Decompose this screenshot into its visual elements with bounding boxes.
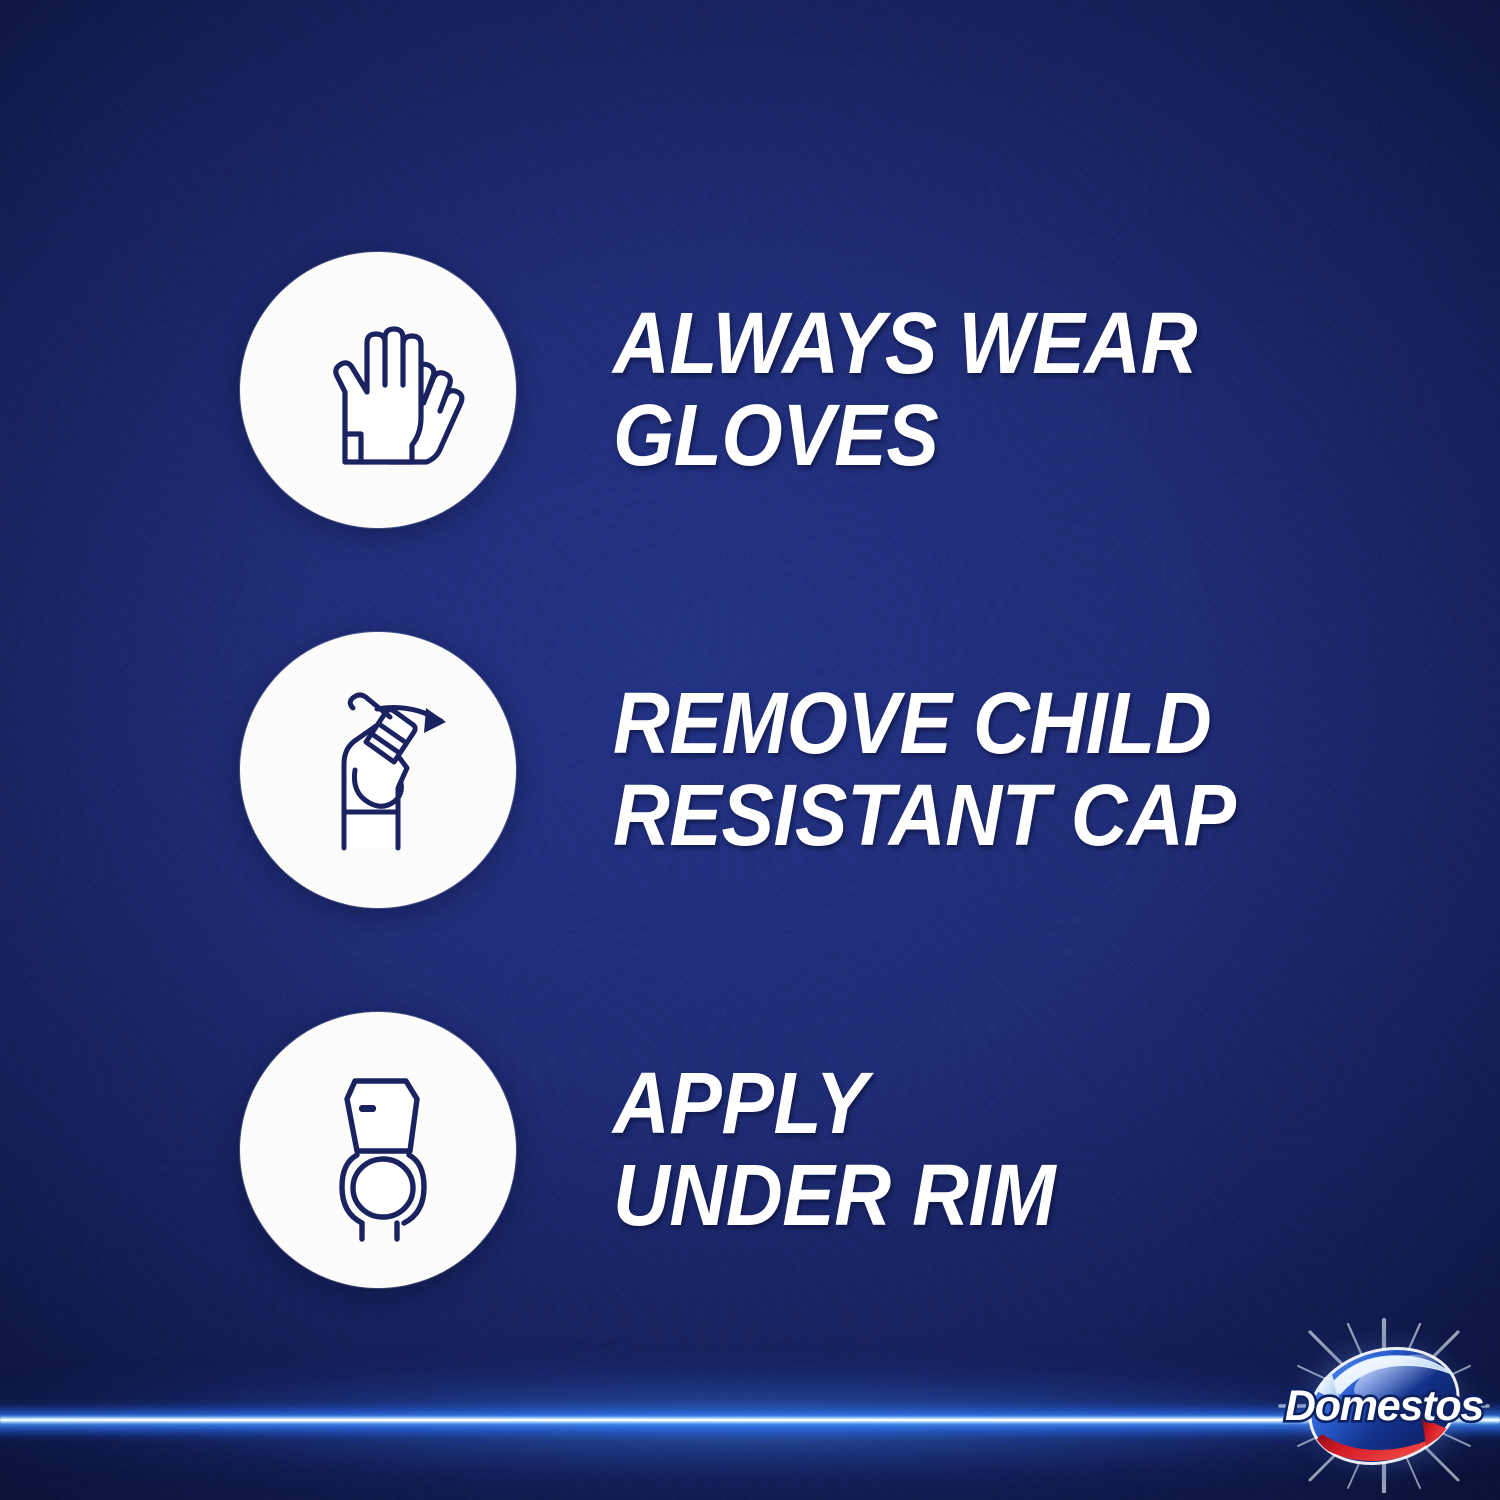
caption-gloves: ALWAYS WEAR GLOVES <box>613 298 1416 482</box>
icon-badge-rim <box>240 1012 516 1288</box>
icon-badge-gloves <box>240 252 516 528</box>
svg-text:Domestos: Domestos <box>1285 1382 1484 1430</box>
gloves-icon <box>285 297 471 483</box>
domestos-logo: Domestos <box>1270 1318 1498 1493</box>
instruction-row-cap: REMOVE CHILD RESISTANT CAP <box>240 632 1301 908</box>
instruction-row-rim: APPLY UNDER RIM <box>240 1012 1102 1288</box>
toilet-under-rim-icon <box>283 1055 473 1245</box>
instruction-row-gloves: ALWAYS WEAR GLOVES <box>240 252 1500 528</box>
icon-badge-cap <box>240 632 516 908</box>
caption-rim: APPLY UNDER RIM <box>613 1058 1055 1242</box>
domestos-logo-mark: Domestos <box>1270 1318 1498 1493</box>
poster-canvas: ALWAYS WEAR GLOVES <box>0 0 1500 1500</box>
caption-cap: REMOVE CHILD RESISTANT CAP <box>613 678 1236 862</box>
logo-wordmark: Domestos <box>1285 1382 1484 1430</box>
child-resistant-cap-icon <box>280 672 476 868</box>
